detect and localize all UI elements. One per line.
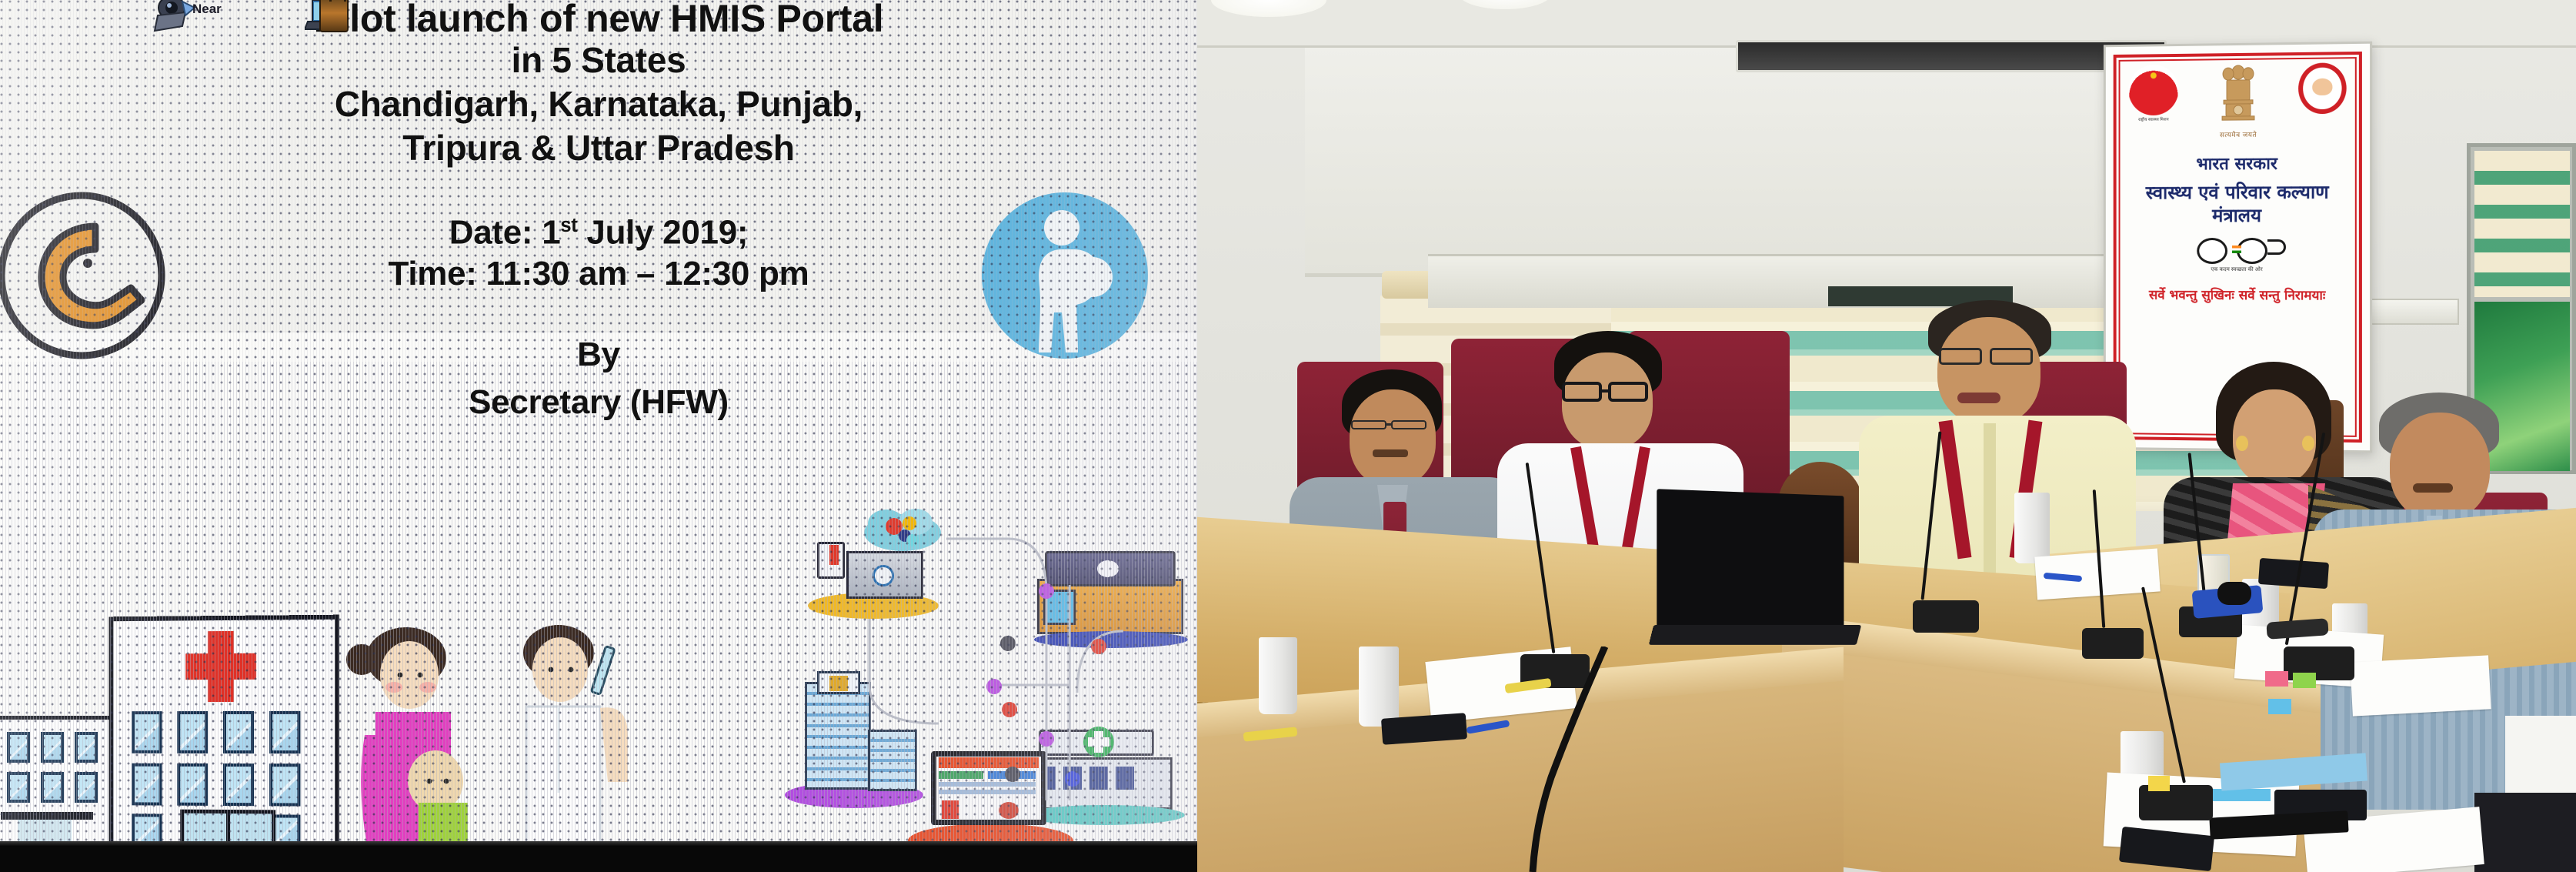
swachh-temple-arm xyxy=(2267,239,2286,255)
sticky-note-pink xyxy=(2265,671,2288,687)
presentation-slide-projection: Near Pilot launch of new HMIS Portal in … xyxy=(0,0,1197,872)
ashoka-emblem-icon xyxy=(2214,64,2262,125)
notebook-spiral xyxy=(2350,655,2491,716)
nhm-logo-group: राष्ट्रीय स्वास्थ्य मिशन xyxy=(2128,65,2178,122)
swachh-bharat-logo xyxy=(2191,238,2283,264)
nhm-logo-subtext: राष्ट्रीय स्वास्थ्य मिशन xyxy=(2128,116,2178,123)
right-window-blind xyxy=(2474,151,2570,297)
slide-time-line: Time: 11:30 am – 12:30 pm xyxy=(0,250,1197,298)
laptop-base xyxy=(1649,625,1861,645)
emblem-caption: सत्यमेव जयते xyxy=(2214,129,2262,139)
swachh-tricolour xyxy=(2232,246,2241,253)
sticky-note-green xyxy=(2293,673,2316,688)
slide-states-count: in 5 States xyxy=(0,37,1197,83)
air-conditioning-vent xyxy=(1736,40,2167,72)
briefcase-icon xyxy=(319,0,349,32)
paper-cup-1 xyxy=(1259,637,1297,714)
hospital-main-building-icon xyxy=(109,615,340,848)
overlay-near-label: Near xyxy=(192,2,222,17)
slide-date-rest: July 2019; xyxy=(577,214,748,252)
paper-cup-3 xyxy=(2014,493,2050,563)
national-health-mission-logo xyxy=(2128,65,2178,115)
slide-by-label: By xyxy=(0,331,1197,379)
composite-image: Near Pilot launch of new HMIS Portal in … xyxy=(0,0,2576,872)
partial-person-trousers xyxy=(2474,793,2576,872)
webcam-icon xyxy=(148,0,196,32)
slide-presenter: Secretary (HFW) xyxy=(0,379,1197,426)
conference-room-photograph: राष्ट्रीय स्वास्थ्य मिशन xyxy=(1197,0,2576,872)
paper-cup-2 xyxy=(1359,646,1399,727)
slide-date-prefix: Date: 1 xyxy=(449,214,561,252)
bbp-logo-group xyxy=(2298,62,2347,114)
sticky-note-blue xyxy=(2268,699,2291,714)
laptop xyxy=(1657,489,1844,635)
screen-bottom-shadow xyxy=(0,846,1197,872)
banner-heading-ministry: स्वास्थ्य एवं परिवार कल्याण मंत्रालय xyxy=(2124,180,2351,227)
computer-mouse xyxy=(2217,582,2251,605)
slide-date-line: Date: 1st July 2019; xyxy=(0,202,1197,257)
slide-states-line-1: Chandigarh, Karnataka, Punjab, xyxy=(0,81,1197,127)
mobile-phone-2 xyxy=(2258,558,2329,589)
swachh-subtext: एक कदम स्वच्छता की ओर xyxy=(2124,266,2351,273)
banner-motto: सर्वे भवन्तु सुखिनः सर्वे सन्तु निरामयाः xyxy=(2124,286,2351,304)
sticky-note-yellow xyxy=(2148,776,2170,791)
swachh-lens-left xyxy=(2197,238,2227,264)
slide-date-superscript: st xyxy=(560,215,577,236)
emblem-group: सत्यमेव जयते xyxy=(2214,64,2262,140)
banner-logo-row: राष्ट्रीय स्वास्थ्य मिशन xyxy=(2124,62,2351,140)
records-office-icon xyxy=(816,539,939,623)
hospital-building-icon xyxy=(0,716,123,850)
beti-bachao-beti-padhao-logo xyxy=(2298,62,2347,114)
slide-states-line-2: Tripura & Uttar Pradesh xyxy=(0,125,1197,171)
doctor-with-syringe-icon xyxy=(485,616,654,862)
mother-and-child-icon xyxy=(339,627,492,858)
banner-heading-government: भारत सरकार xyxy=(2124,151,2351,175)
